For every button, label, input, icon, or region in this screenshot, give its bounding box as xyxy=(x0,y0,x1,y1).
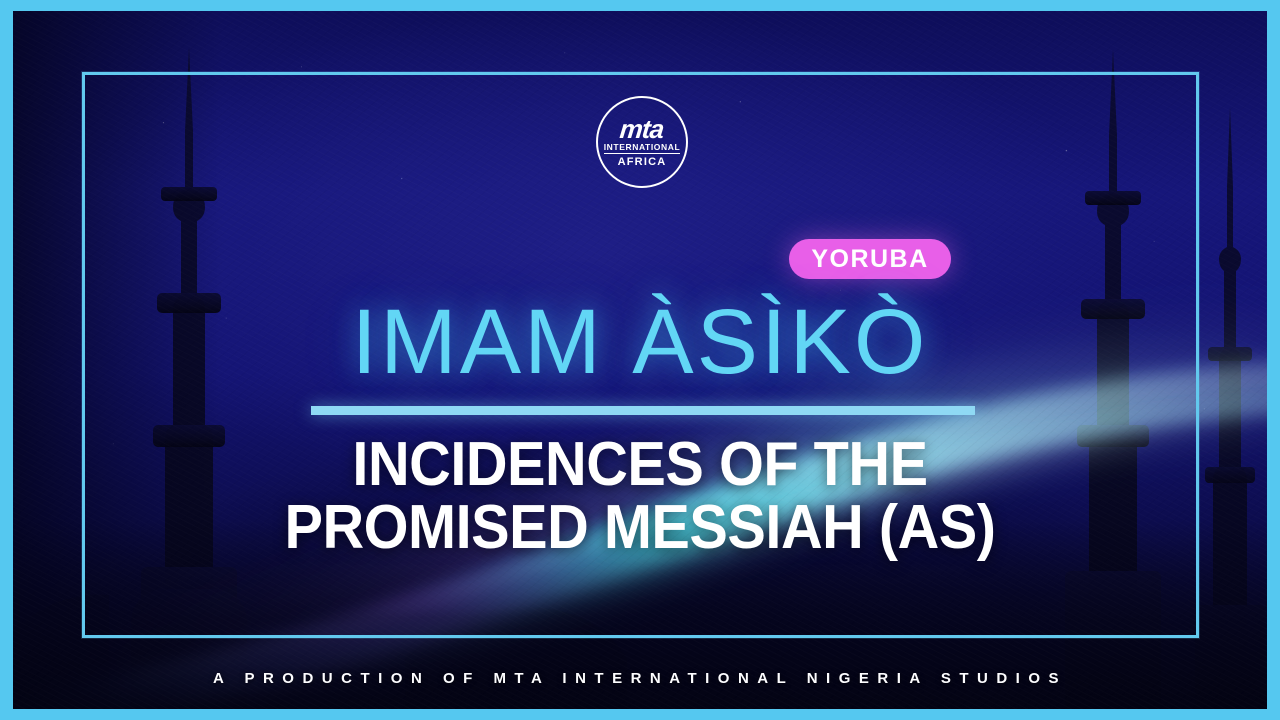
minaret-right-far xyxy=(1195,107,1265,709)
title-underline xyxy=(311,406,975,415)
language-badge-label: YORUBA xyxy=(811,245,928,274)
title-card: mta INTERNATIONAL AFRICA YORUBA IMAM ÀSÌ… xyxy=(0,0,1280,720)
episode-subtitle-line-2: PROMISED MESSIAH (AS) xyxy=(45,497,1235,560)
episode-subtitle: INCIDENCES OF THE PROMISED MESSIAH (AS) xyxy=(45,434,1235,559)
mta-logo-international: INTERNATIONAL xyxy=(604,143,681,155)
production-credit: A PRODUCTION OF MTA INTERNATIONAL NIGERI… xyxy=(0,670,1280,687)
mta-logo: mta INTERNATIONAL AFRICA xyxy=(596,96,688,188)
mta-wordmark: mta xyxy=(619,116,665,142)
dome-left xyxy=(13,595,109,709)
program-title: IMAM ÀSÌKÒ xyxy=(0,296,1280,388)
mta-logo-africa: AFRICA xyxy=(618,157,667,168)
dome-center xyxy=(405,607,627,709)
episode-subtitle-line-1: INCIDENCES OF THE xyxy=(45,434,1235,497)
language-badge: YORUBA xyxy=(789,239,951,279)
